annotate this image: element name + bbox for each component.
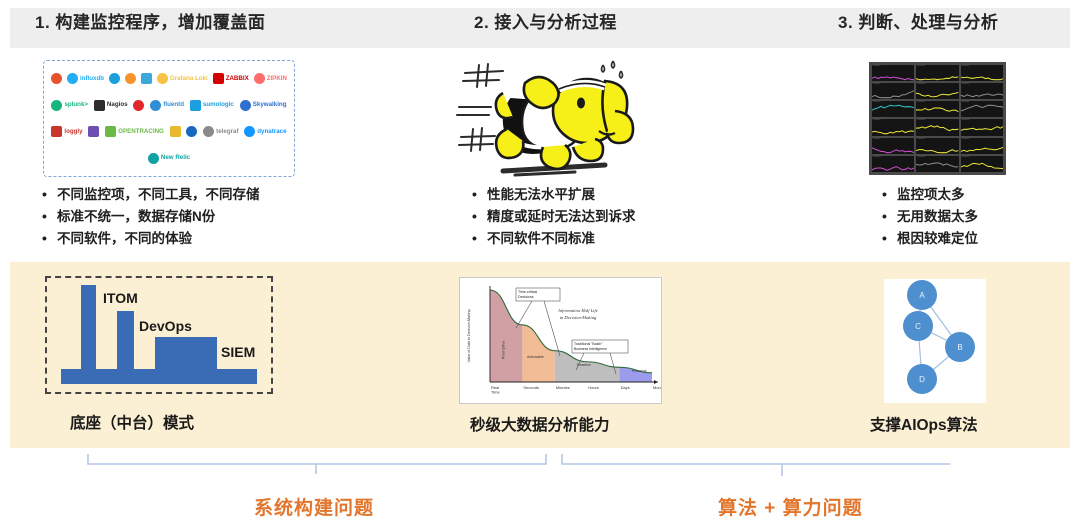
dynatrace-icon [244,126,255,137]
dashboard-panel: ▭▭▭▭ [916,119,958,135]
svg-text:Historical: Historical [632,369,647,373]
logo-label: Skywalking [253,102,287,108]
graph-node-label: A [919,291,925,300]
platform-layers-bar-chart: ITOMDevOpsSIEM [45,276,273,394]
logo-label: dynatrace [257,129,286,135]
dashboard-panel: ▭▭▭▭ [961,138,1003,154]
svg-text:Months: Months [653,385,662,390]
group-brackets [60,450,950,490]
logo-sumologic: sumologic [190,100,234,111]
logo-elasticsearch [109,73,120,84]
dashboard-panel: ▭▭▭▭ [961,101,1003,117]
dashboard-panel: ▭▭▭▭ [916,156,958,172]
loggly-icon [51,126,62,137]
zipkin-icon [254,73,265,84]
logo-label: sumologic [203,102,234,108]
list-item: 不同软件，不同的体验 [40,228,260,250]
list-item: 精度或延时无法达到诉求 [470,206,636,228]
dashboard-panel: ▭▭▭▭ [916,101,958,117]
logo-consul [133,100,144,111]
logo-label: ZIPKIN [267,76,287,82]
logo-skywalking: Skywalking [240,100,287,111]
logo-label: loggly [64,129,82,135]
graph-node-label: B [957,343,962,352]
list-item: 不同监控项，不同工具，不同存储 [40,184,260,206]
svg-text:Preemptive: Preemptive [502,341,506,359]
fluentd-icon [150,100,161,111]
bar-siem [155,337,217,369]
logo-graylog [141,73,152,84]
dashboard-panel: ▭▭▭▭ [872,101,914,117]
logo-grid: influxdbGrafana LokiZABBIXZIPKINsplunk>N… [49,66,289,171]
bar-label-itom: ITOM [103,290,138,306]
dashboard-panel: ▭▭▭▭ [916,138,958,154]
monitoring-tools-logo-collage: influxdbGrafana LokiZABBIXZIPKINsplunk>N… [43,60,295,177]
band-caption-2: 秒级大数据分析能力 [470,413,610,435]
graylog-icon [141,73,152,84]
logo-influxdb: influxdb [67,73,104,84]
dashboard-panel: ▭▭▭▭ [872,119,914,135]
nagios-icon [94,100,105,111]
opentracing-icon [105,126,116,137]
logo-label: Nagios [107,102,128,108]
logo-label: New Relic [161,155,190,161]
svg-text:Actionable: Actionable [527,355,544,359]
list-item: 标准不统一，数据存储N份 [40,206,260,228]
logo-label: OPENTRACING [118,129,164,135]
band-caption-3: 支撑AIOps算法 [870,413,978,435]
dashboard-panel: ▭▭▭▭ [961,83,1003,99]
header-title-3: 3. 判断、处理与分析 [838,8,998,33]
dashboard-panel: ▭▭▭▭ [961,156,1003,172]
logo-label: Grafana Loki [170,76,208,82]
column2-bullets: 性能无法水平扩展 精度或延时无法达到诉求 不同软件不同标准 [470,184,636,250]
list-item: 根因较难定位 [880,228,978,250]
tingyun-icon [186,126,197,137]
dashboard-panel: ▭▭▭▭ [961,65,1003,81]
footer-label-2: 算法 + 算力问题 [718,493,863,520]
aiops-node-graph: ACBD [884,279,986,403]
bar-devops [117,311,134,369]
grafana-loki-icon [157,73,168,84]
dashboard-panel: ▭▭▭▭ [872,138,914,154]
logo-telegraf: telegraf [203,126,238,137]
logo-label: splunk> [64,102,88,108]
logo-label: ZABBIX [226,76,249,82]
datadog-icon [88,126,99,137]
bar-label-devops: DevOps [139,318,192,334]
bar-label-siem: SIEM [221,344,255,360]
logo-opentracing: OPENTRACING [105,126,164,137]
elastic-beats-icon [170,126,181,137]
svg-text:in Decision-Making: in Decision-Making [560,315,597,320]
bar-base [61,369,257,384]
logo-label: fluentd [163,102,184,108]
svg-text:Information Half Life: Information Half Life [557,308,598,313]
svg-text:Seconds: Seconds [523,385,539,390]
list-item: 无用数据太多 [880,206,978,228]
logo-splunk: splunk> [51,100,88,111]
svg-text:Time-critical: Time-critical [518,290,537,294]
logo-datadog [88,126,99,137]
logo-zabbix: ZABBIX [213,73,249,84]
dashboard-panel: ▭▭▭▭ [872,156,914,172]
logo-zipkin: ZIPKIN [254,73,287,84]
logo-label: telegraf [216,129,238,135]
svg-text:Minutes: Minutes [556,385,570,390]
prometheus-icon [51,73,62,84]
grafana-dashboard-grid: ▭▭▭▭▭▭▭▭▭▭▭▭▭▭▭▭▭▭▭▭▭▭▭▭▭▭▭▭▭▭▭▭▭▭▭▭▭▭▭▭… [869,62,1006,175]
logo-prometheus [51,73,62,84]
svg-text:Days: Days [621,385,630,390]
zabbix-icon [213,73,224,84]
logo-tingyun [186,126,197,137]
hadoop-running-elephant [455,55,660,180]
svg-text:Hours: Hours [588,385,599,390]
list-item: 性能无法水平扩展 [470,184,636,206]
svg-text:Time: Time [491,390,501,395]
dashboard-panel: ▭▭▭▭ [872,83,914,99]
svg-text:Business Intelligence: Business Intelligence [574,347,607,351]
logo-grafana-loki: Grafana Loki [157,73,208,84]
svg-text:Decisions: Decisions [518,295,534,299]
logo-new-relic: New Relic [148,153,190,164]
dashboard-panel: ▭▭▭▭ [916,83,958,99]
logo-nagios: Nagios [94,100,128,111]
svg-text:Traditional "Batch": Traditional "Batch" [574,342,603,346]
header-title-2: 2. 接入与分析过程 [474,8,617,33]
bar-itom [81,285,96,369]
grafana-icon [125,73,136,84]
logo-elastic-beats [170,126,181,137]
consul-icon [133,100,144,111]
graph-node-label: C [915,322,921,331]
column1-bullets: 不同监控项，不同工具，不同存储 标准不统一，数据存储N份 不同软件，不同的体验 [40,184,260,250]
slide-root: 1. 构建监控程序，增加覆盖面 2. 接入与分析过程 3. 判断、处理与分析 i… [0,0,1080,530]
new-relic-icon [148,153,159,164]
svg-text:Value of Data to Decision-Maki: Value of Data to Decision-Making [467,309,471,362]
column3-bullets: 监控项太多 无用数据太多 根因较难定位 [880,184,978,250]
graph-node-label: D [919,375,925,384]
footer-label-1: 系统构建问题 [254,493,374,520]
logo-label: influxdb [80,76,104,82]
logo-loggly: loggly [51,126,82,137]
information-half-life-chart: Value of Data to Decision-MakingRealTime… [459,277,662,404]
dashboard-panel: ▭▭▭▭ [872,65,914,81]
band-caption-1: 底座（中台）模式 [70,411,194,433]
list-item: 监控项太多 [880,184,978,206]
dashboard-panel: ▭▭▭▭ [916,65,958,81]
dashboard-panel: ▭▭▭▭ [961,119,1003,135]
telegraf-icon [203,126,214,137]
sumologic-icon [190,100,201,111]
skywalking-icon [240,100,251,111]
elasticsearch-icon [109,73,120,84]
splunk-icon [51,100,62,111]
list-item: 不同软件不同标准 [470,228,636,250]
header-title-1: 1. 构建监控程序，增加覆盖面 [35,8,265,33]
influxdb-icon [67,73,78,84]
logo-fluentd: fluentd [150,100,184,111]
logo-grafana [125,73,136,84]
logo-dynatrace: dynatrace [244,126,286,137]
